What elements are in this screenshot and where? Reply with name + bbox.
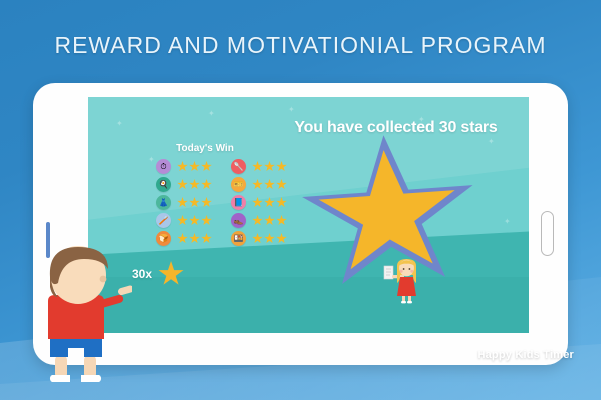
spoon-icon: 🥄	[231, 159, 246, 174]
star-icon	[276, 161, 287, 172]
star-rating	[177, 179, 212, 190]
star-icon	[252, 179, 263, 190]
page-title: REWARD AND MOTIVATIONIAL PROGRAM	[0, 32, 601, 59]
star-icon	[201, 179, 212, 190]
star-icon	[276, 197, 287, 208]
star-icon	[252, 233, 263, 244]
star-icon	[264, 161, 275, 172]
breakfast-icon: 🍳	[156, 177, 171, 192]
reward-task-clock[interactable]: ⏱	[156, 159, 231, 174]
star-icon	[177, 197, 188, 208]
reward-row: 🪥👞	[156, 213, 306, 228]
star-icon	[276, 179, 287, 190]
reward-row: 🍳🎫	[156, 177, 306, 192]
book-icon: 📘	[231, 195, 246, 210]
reward-row: 👗📘	[156, 195, 306, 210]
home-button[interactable]	[541, 211, 554, 256]
star-icon	[201, 161, 212, 172]
lunchbox-icon: 🍱	[231, 231, 246, 246]
star-icon	[264, 179, 275, 190]
star-icon	[201, 215, 212, 226]
dress-icon: 👗	[156, 195, 171, 210]
sparkle-icon: ✦	[504, 217, 511, 226]
star-rating	[252, 215, 287, 226]
toothbrush-icon: 🪥	[156, 213, 171, 228]
reward-task-toast[interactable]: 🍞	[156, 231, 231, 246]
reward-task-ticket[interactable]: 🎫	[231, 177, 306, 192]
ticket-icon: 🎫	[231, 177, 246, 192]
star-icon	[177, 161, 188, 172]
star-icon	[177, 233, 188, 244]
reward-row: ⏱🥄	[156, 159, 306, 174]
star-icon	[264, 215, 275, 226]
star-icon	[252, 197, 263, 208]
star-rating	[177, 161, 212, 172]
clock-icon: ⏱	[156, 159, 171, 174]
star-icon	[201, 233, 212, 244]
star-rating	[252, 161, 287, 172]
reward-task-shoes[interactable]: 👞	[231, 213, 306, 228]
star-count-label: 30x	[132, 267, 152, 281]
star-icon	[252, 161, 263, 172]
star-rating	[177, 197, 212, 208]
star-icon	[189, 179, 200, 190]
star-icon	[276, 215, 287, 226]
toast-icon: 🍞	[156, 231, 171, 246]
star-icon	[189, 215, 200, 226]
star-icon	[189, 233, 200, 244]
star-icon	[158, 261, 184, 287]
star-rating	[252, 179, 287, 190]
reward-task-spoon[interactable]: 🥄	[231, 159, 306, 174]
reward-task-lunchbox[interactable]: 🍱	[231, 231, 306, 246]
star-icon	[177, 179, 188, 190]
star-rating	[252, 233, 287, 244]
star-icon	[276, 233, 287, 244]
star-icon	[264, 197, 275, 208]
star-count-badge: 30x	[132, 261, 184, 287]
boy-character	[22, 243, 132, 388]
shoes-icon: 👞	[231, 213, 246, 228]
star-rating	[177, 215, 212, 226]
reward-task-dress[interactable]: 👗	[156, 195, 231, 210]
brand-label: Happy Kids Timer	[477, 349, 574, 361]
reward-task-book[interactable]: 📘	[231, 195, 306, 210]
star-rating	[252, 197, 287, 208]
rewards-grid: ⏱🥄🍳🎫👗📘🪥👞🍞🍱	[156, 159, 306, 246]
reward-task-breakfast[interactable]: 🍳	[156, 177, 231, 192]
star-icon	[189, 161, 200, 172]
tablet-screen: ✦ ✦ ✦ ✦ ✦ ✦ ✦ ✦ You have collected 30 st…	[88, 97, 529, 333]
star-icon	[177, 215, 188, 226]
star-icon	[264, 233, 275, 244]
girl-character	[382, 257, 430, 305]
star-rating	[177, 233, 212, 244]
star-icon	[252, 215, 263, 226]
star-icon	[201, 197, 212, 208]
star-icon	[189, 197, 200, 208]
reward-row: 🍞🍱	[156, 231, 306, 246]
todays-win-label: Today's Win	[130, 143, 280, 154]
reward-task-toothbrush[interactable]: 🪥	[156, 213, 231, 228]
